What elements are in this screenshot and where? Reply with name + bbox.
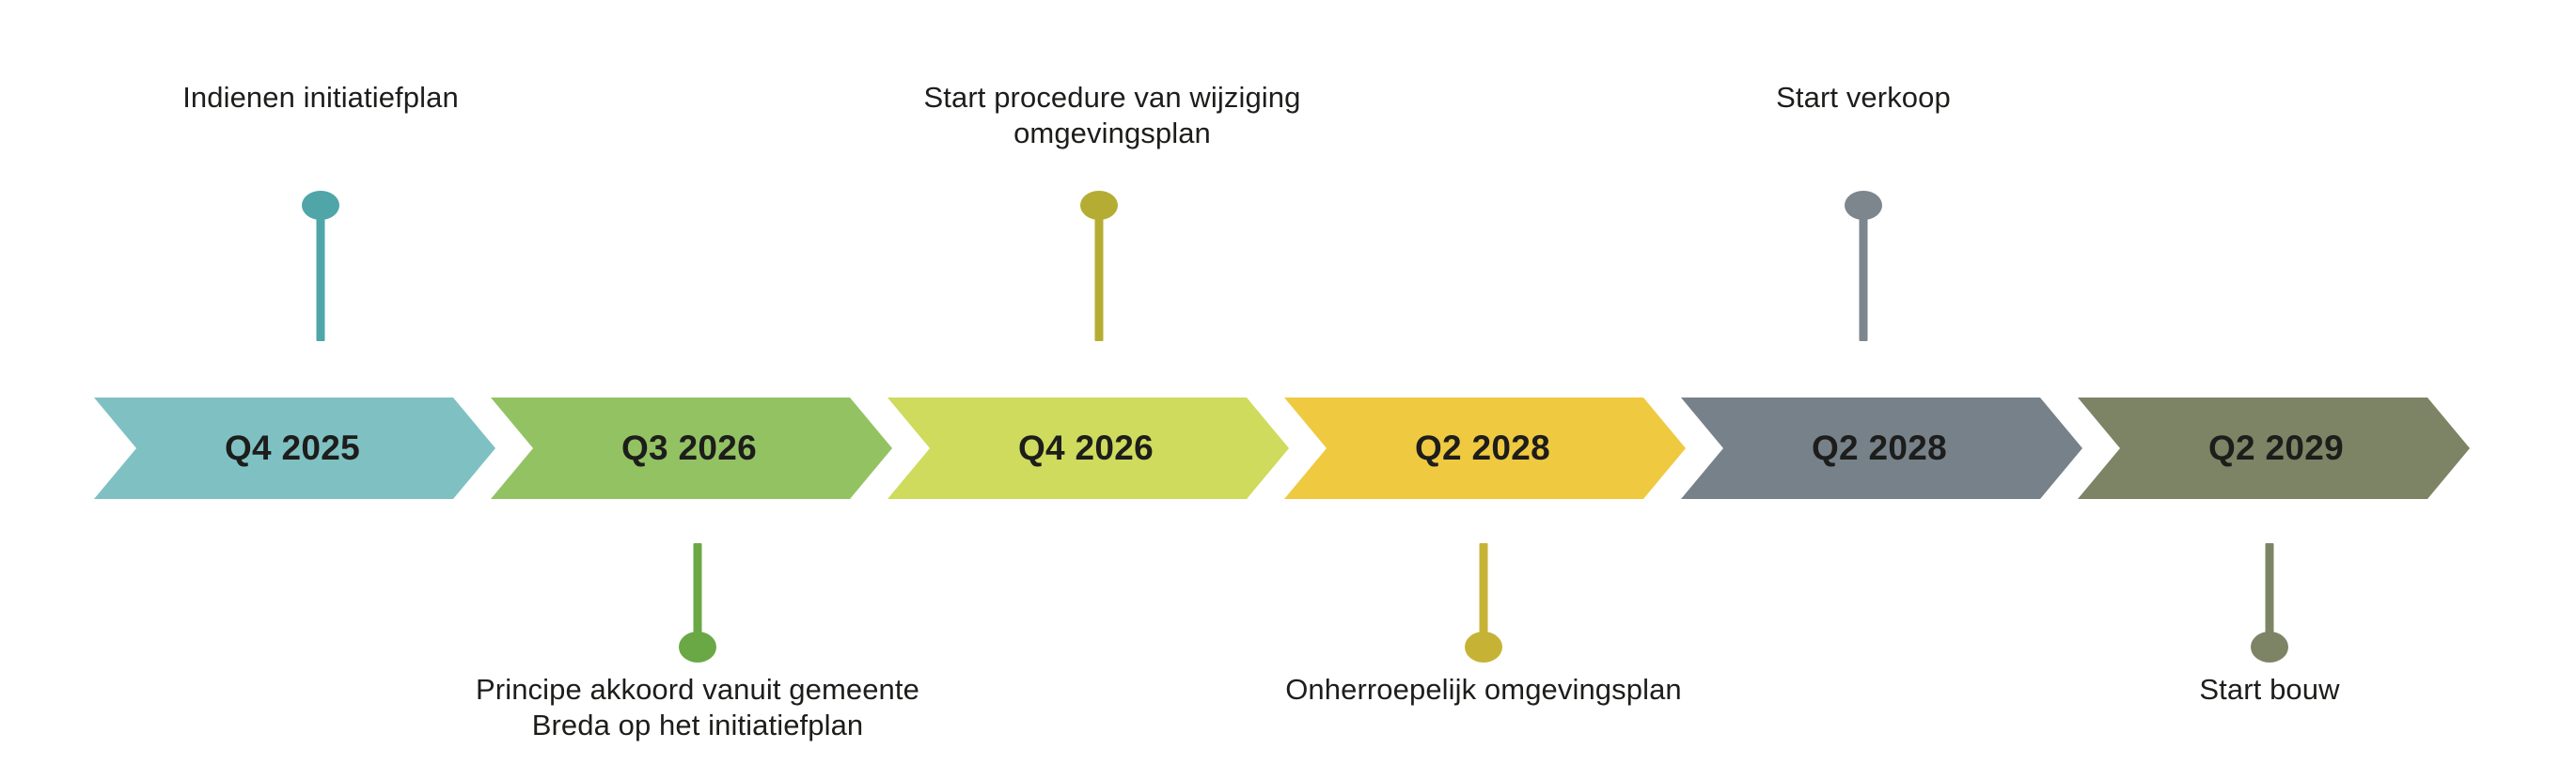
milestone-pin-below-1[interactable] [1463,543,1504,663]
pin-stem-icon [2266,543,2274,645]
pin-stem-icon [1480,543,1488,645]
milestone-label-above-0: Indienen initiatiefplan [57,80,584,116]
milestone-label-above-1: Start procedure van wijziging omgevingsp… [821,80,1404,151]
pin-head-icon [2251,632,2288,663]
pin-stem-icon [1095,213,1104,341]
pin-stem-icon [317,213,325,341]
milestone-label-below-0: Principe akkoord vanuit gemeente Breda o… [369,672,1027,743]
pin-head-icon [679,632,716,663]
pin-stem-icon [1860,213,1868,341]
chevron-segment-label-4: Q2 2028 [1415,429,1550,468]
milestone-pin-below-0[interactable] [677,543,718,663]
timeline-diagram: Indienen initiatiefplan Start procedure … [0,0,2576,780]
milestone-pin-above-1[interactable] [1078,191,1120,351]
chevron-segment-label-2: Q3 2026 [621,429,757,468]
pin-stem-icon [694,543,702,645]
milestone-label-above-2: Start verkoop [1600,80,2127,116]
chevron-segment-label-3: Q4 2026 [1018,429,1154,468]
pin-head-icon [1465,632,1502,663]
chevron-segment-label-1: Q4 2025 [225,429,360,468]
milestone-label-below-2: Start bouw [2034,672,2505,708]
milestone-pin-above-2[interactable] [1843,191,1884,351]
chevron-segment-label-5: Q2 2028 [1812,429,1947,468]
chevron-segment-label-6: Q2 2029 [2208,429,2344,468]
milestone-label-below-1: Onherroepelijk omgevingsplan [1154,672,1813,708]
milestone-pin-above-0[interactable] [300,191,341,351]
milestone-pin-below-2[interactable] [2249,543,2290,663]
